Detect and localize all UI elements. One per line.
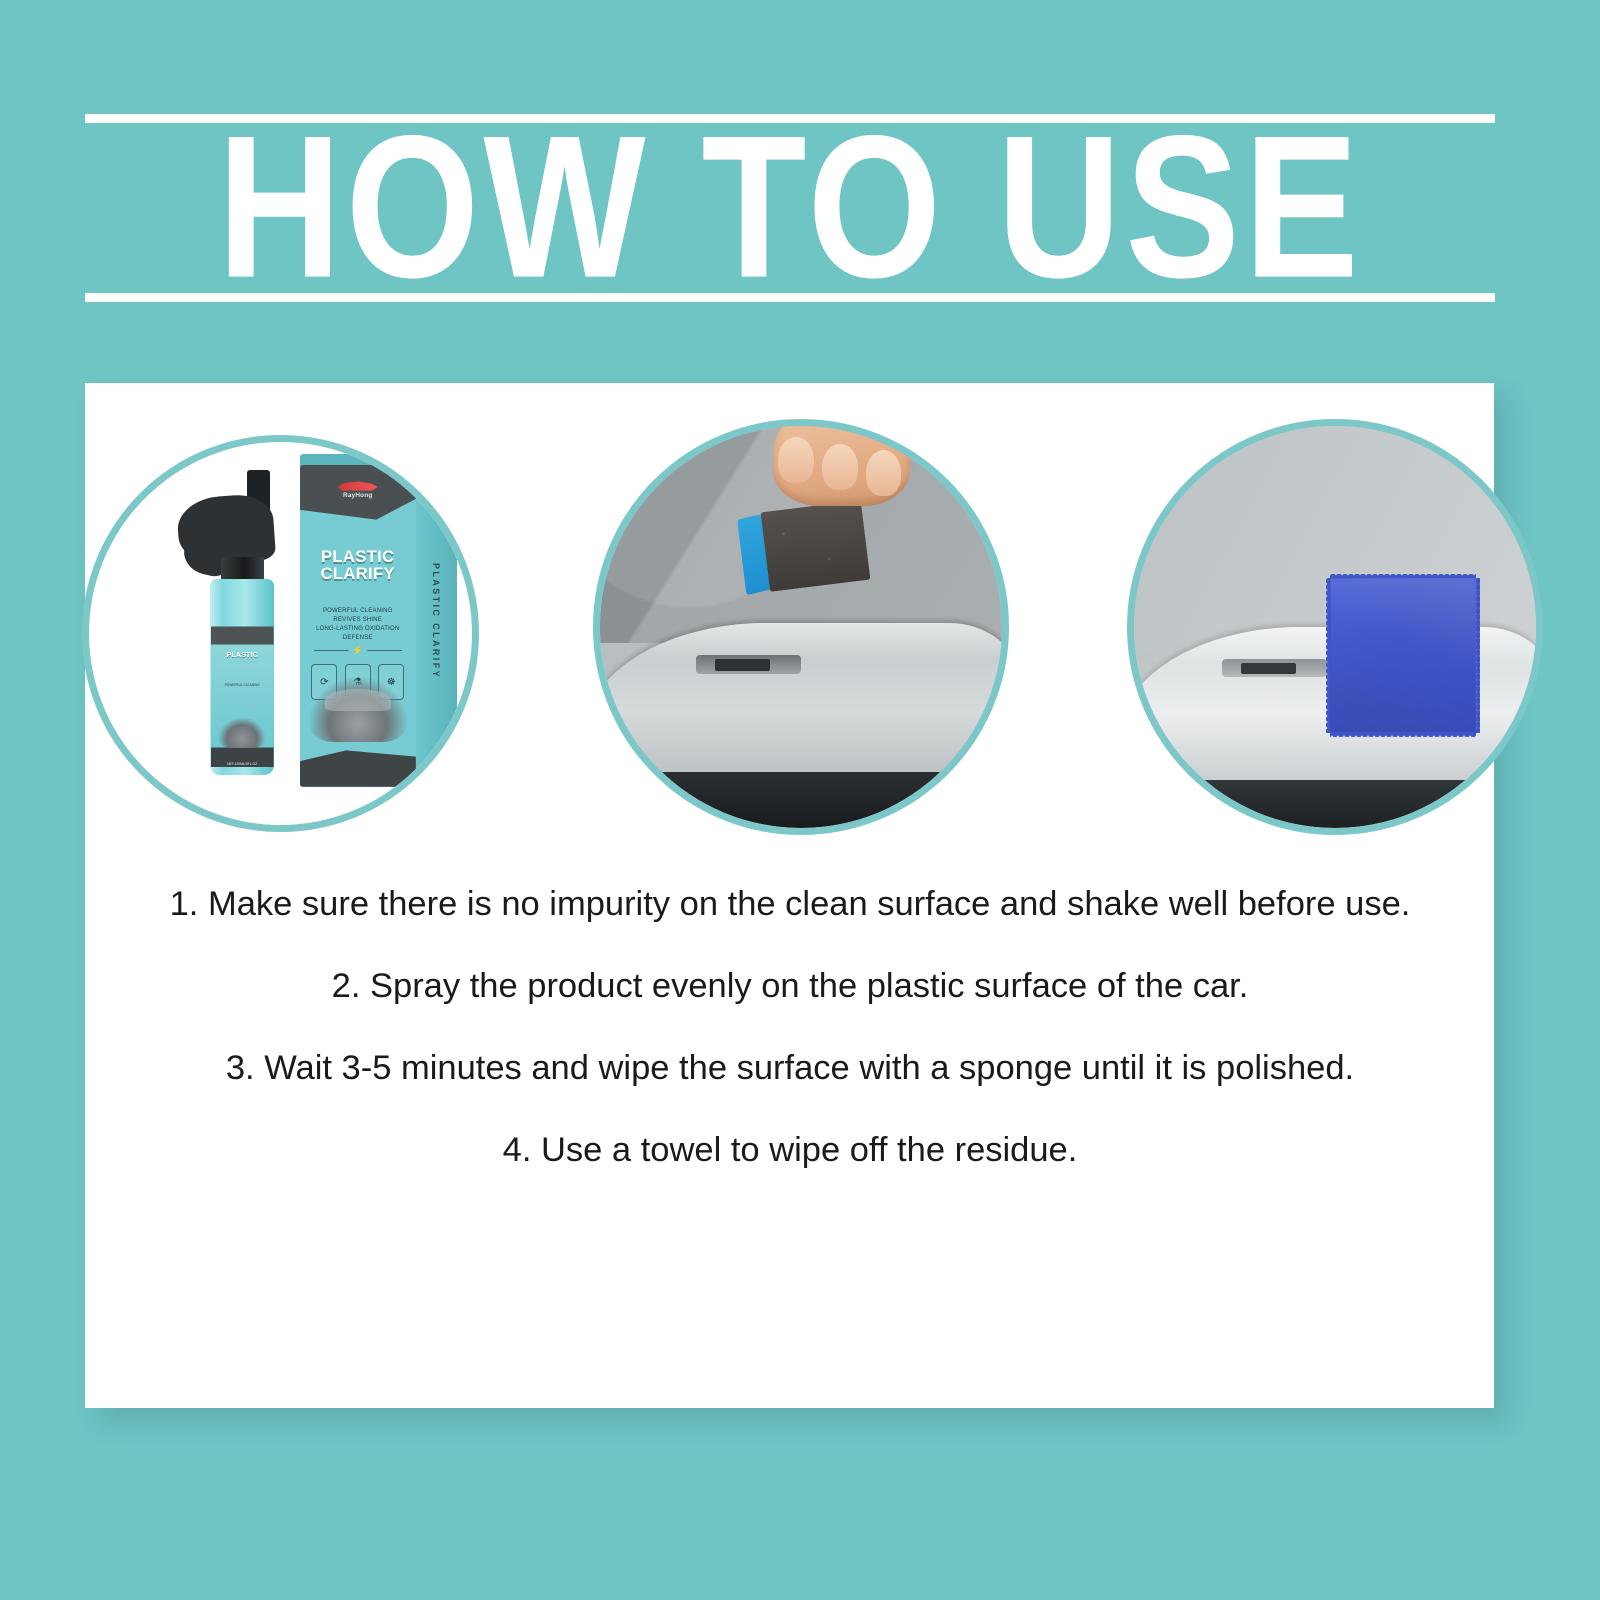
brand-logo: RayHong [330,478,386,501]
page-title: HOW TO USE [85,107,1495,308]
content-card: PLASTIC POWERFUL CLEANING NET:120ML/4FL.… [85,383,1494,1408]
microfiber-towel [1330,578,1476,733]
lower-shadow-area [1134,780,1536,828]
box-title-line-2: CLARIFY [307,566,409,583]
box-bullet-1: POWERFUL CLEANING [304,607,411,616]
product-packshot-circle: PLASTIC POWERFUL CLEANING NET:120ML/4FL.… [82,435,479,832]
product-packshot-image: PLASTIC POWERFUL CLEANING NET:120ML/4FL.… [89,442,472,825]
abrasive-sponge [760,501,870,593]
instruction-steps: 1. Make sure there is no impurity on the… [125,863,1455,1191]
finger-3 [866,450,902,496]
step-2: 2. Spray the product evenly on the plast… [125,945,1455,1027]
box-feature-list: POWERFUL CLEANING REVIVES SHINE LONG-LAS… [304,607,411,643]
circle-ring [593,419,1009,835]
header: HOW TO USE [85,100,1495,320]
door-trim-panel [600,623,1002,784]
sponge-wipe-image [600,426,1002,828]
sponge-grit-face [760,501,870,593]
box-divider-bolt-icon [314,650,402,651]
bottle-label-bullet: POWERFUL CLEANING [211,683,274,687]
finger-2 [822,444,858,490]
towel-sheen [1330,578,1476,733]
box-product-title: PLASTIC CLARIFY [307,549,409,583]
trigger-sprayer-icon [176,492,276,566]
step-3: 3. Wait 3-5 minutes and wipe the surface… [125,1027,1455,1109]
car-silhouette-icon [218,717,266,748]
box-title-line-1: PLASTIC [307,549,409,566]
box-car-illustration-icon [309,677,407,741]
hand-icon [773,426,910,506]
bottle-body: PLASTIC POWERFUL CLEANING NET:120ML/4FL.… [210,579,274,775]
box-bullet-3: LONG-LASTING OXIDATION DEFENSE [304,625,411,643]
car-logo-icon [338,481,378,491]
brand-name: RayHong [343,492,372,499]
circle-ring: PLASTIC POWERFUL CLEANING NET:120ML/4FL.… [82,435,479,832]
lower-shadow-area [600,772,1002,828]
spray-bottle: PLASTIC POWERFUL CLEANING NET:120ML/4FL.… [204,496,281,776]
box-side-text: PLASTIC CLARIFY [431,563,441,679]
finger-1 [778,437,814,483]
bottle-label: PLASTIC POWERFUL CLEANING NET:120ML/4FL.… [211,626,274,767]
step-4: 4. Use a towel to wipe off the residue. [125,1109,1455,1191]
bottle-net-contents: NET:120ML/4FL.OZ [211,762,274,766]
sponge-wipe-circle [593,419,1009,835]
door-handle-recess [696,655,801,673]
box-side-panel: PLASTIC CLARIFY [416,455,457,786]
retail-box: PLASTIC CLARIFY RayHong PLASTIC CLARIFY … [300,465,457,787]
box-net-contents: NET:120ML/4FL.OZ [300,773,416,782]
header-rule-bottom [85,293,1495,302]
bottle-label-title: PLASTIC [211,652,274,659]
box-front-panel: RayHong PLASTIC CLARIFY POWERFUL CLEANIN… [300,465,416,787]
door-handle-recess [1222,659,1327,677]
step-1: 1. Make sure there is no impurity on the… [125,863,1455,945]
box-bullet-2: REVIVES SHINE [304,616,411,625]
